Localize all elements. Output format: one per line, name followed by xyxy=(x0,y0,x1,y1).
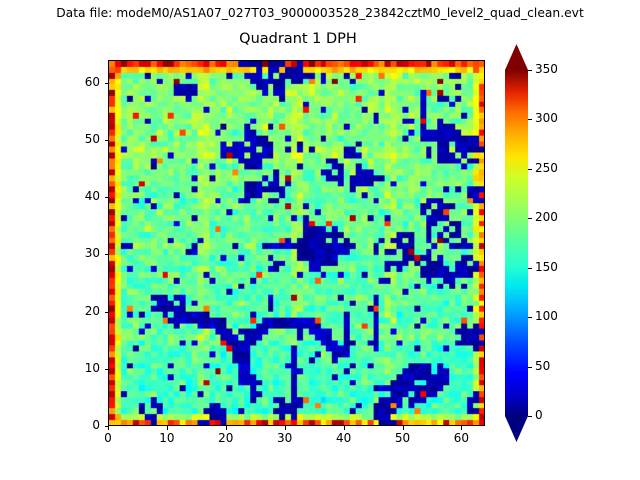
x-tick-30 xyxy=(285,426,286,430)
y-tick-60 xyxy=(105,83,109,84)
x-tick-label-20: 20 xyxy=(206,431,246,445)
y-tick-0 xyxy=(105,426,109,427)
x-tick-0 xyxy=(108,426,109,430)
triangle-up-icon xyxy=(505,44,528,70)
colorbar-tick-150 xyxy=(528,268,532,269)
x-tick-10 xyxy=(167,426,168,430)
x-tick-label-40: 40 xyxy=(324,431,364,445)
y-tick-label-10: 10 xyxy=(60,361,100,375)
y-tick-label-30: 30 xyxy=(60,246,100,260)
colorbar-tick-50 xyxy=(528,367,532,368)
colorbar-tick-label-150: 150 xyxy=(535,260,558,274)
x-tick-20 xyxy=(226,426,227,430)
x-tick-label-10: 10 xyxy=(147,431,187,445)
matplotlib-figure: Data file: modeM0/AS1A07_027T03_90000035… xyxy=(0,0,640,480)
x-tick-40 xyxy=(344,426,345,430)
x-tick-60 xyxy=(461,426,462,430)
y-tick-label-20: 20 xyxy=(60,304,100,318)
colorbar-tick-250 xyxy=(528,169,532,170)
colorbar-tick-350 xyxy=(528,70,532,71)
data-file-suptitle: Data file: modeM0/AS1A07_027T03_90000035… xyxy=(0,6,640,20)
x-tick-label-30: 30 xyxy=(265,431,305,445)
colorbar-tick-label-0: 0 xyxy=(535,408,543,422)
colorbar-tick-label-300: 300 xyxy=(535,111,558,125)
colorbar-tick-300 xyxy=(528,119,532,120)
x-tick-label-0: 0 xyxy=(88,431,128,445)
y-tick-40 xyxy=(105,197,109,198)
colorbar xyxy=(505,44,528,442)
colorbar-tick-0 xyxy=(528,416,532,417)
y-tick-20 xyxy=(105,312,109,313)
y-tick-30 xyxy=(105,254,109,255)
colorbar-tick-label-200: 200 xyxy=(535,210,558,224)
x-tick-50 xyxy=(403,426,404,430)
triangle-down-icon xyxy=(505,416,528,442)
y-tick-label-60: 60 xyxy=(60,75,100,89)
x-tick-label-50: 50 xyxy=(383,431,423,445)
y-tick-10 xyxy=(105,369,109,370)
y-tick-label-0: 0 xyxy=(60,418,100,432)
heatmap-axes xyxy=(108,60,485,426)
colorbar-tick-label-350: 350 xyxy=(535,62,558,76)
y-tick-label-40: 40 xyxy=(60,189,100,203)
y-tick-50 xyxy=(105,140,109,141)
colorbar-gradient xyxy=(505,44,528,442)
heatmap-image xyxy=(109,61,484,425)
colorbar-tick-label-50: 50 xyxy=(535,359,550,373)
colorbar-tick-100 xyxy=(528,317,532,318)
y-tick-label-50: 50 xyxy=(60,132,100,146)
colorbar-tick-label-250: 250 xyxy=(535,161,558,175)
x-tick-label-60: 60 xyxy=(441,431,481,445)
colorbar-tick-200 xyxy=(528,218,532,219)
colorbar-body xyxy=(505,70,528,416)
colorbar-tick-label-100: 100 xyxy=(535,309,558,323)
